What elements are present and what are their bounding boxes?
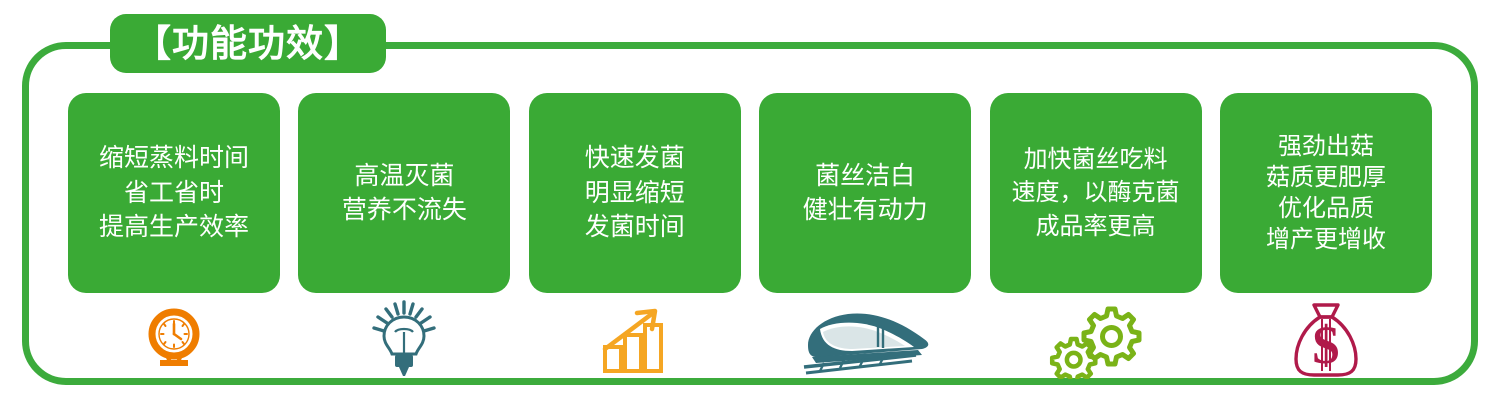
card-text-line: 健壮有动力 — [803, 193, 928, 228]
功能功效-infographic: 【功能功效】 缩短蒸料时间 省工省时 提高生产效率 高温灭菌 营养不流失 快速发… — [0, 0, 1500, 406]
icon-cell-6: $ — [1220, 300, 1432, 382]
card-text-line: 发菌时间 — [585, 210, 685, 245]
money-bag-icon: $ — [1288, 301, 1364, 381]
card-text-line: 成品率更高 — [1036, 210, 1156, 243]
icon-cell-4 — [759, 300, 971, 382]
feature-card-2[interactable]: 高温灭菌 营养不流失 — [298, 93, 510, 293]
bar-chart-growth-icon — [597, 305, 673, 377]
icon-cell-2 — [298, 300, 510, 382]
gears-icon — [1046, 303, 1146, 379]
feature-icons-row: $ — [68, 300, 1432, 382]
card-text-line: 营养不流失 — [342, 193, 467, 228]
card-text-line: 加快菌丝吃料 — [1024, 143, 1168, 176]
title-badge: 【功能功效】 — [110, 14, 386, 73]
card-text-line: 高温灭菌 — [354, 159, 454, 194]
high-speed-train-icon — [790, 305, 940, 377]
clock-icon — [136, 303, 212, 379]
card-text-line: 菌丝洁白 — [815, 159, 915, 194]
page-title: 【功能功效】 — [134, 25, 362, 62]
card-text-line: 菇质更肥厚 — [1266, 162, 1386, 193]
card-text-line: 强劲出菇 — [1278, 131, 1374, 162]
icon-cell-3 — [529, 300, 741, 382]
feature-card-1[interactable]: 缩短蒸料时间 省工省时 提高生产效率 — [68, 93, 280, 293]
card-text-line: 增产更增收 — [1266, 224, 1386, 255]
feature-cards-row: 缩短蒸料时间 省工省时 提高生产效率 高温灭菌 营养不流失 快速发菌 明显缩短 … — [68, 93, 1432, 293]
feature-card-3[interactable]: 快速发菌 明显缩短 发菌时间 — [529, 93, 741, 293]
card-text-line: 缩短蒸料时间 — [99, 141, 249, 176]
card-text-line: 速度，以酶克菌 — [1012, 176, 1180, 209]
feature-card-4[interactable]: 菌丝洁白 健壮有动力 — [759, 93, 971, 293]
lightbulb-icon — [369, 300, 439, 382]
icon-cell-5 — [990, 300, 1202, 382]
card-text-line: 明显缩短 — [585, 176, 685, 211]
card-text-line: 快速发菌 — [585, 141, 685, 176]
card-text-line: 提高生产效率 — [99, 210, 249, 245]
card-text-line: 省工省时 — [124, 176, 224, 211]
svg-text:$: $ — [1312, 315, 1339, 375]
card-text-line: 优化品质 — [1278, 193, 1374, 224]
icon-cell-1 — [68, 300, 280, 382]
feature-card-6[interactable]: 强劲出菇 菇质更肥厚 优化品质 增产更增收 — [1220, 93, 1432, 293]
feature-card-5[interactable]: 加快菌丝吃料 速度，以酶克菌 成品率更高 — [990, 93, 1202, 293]
